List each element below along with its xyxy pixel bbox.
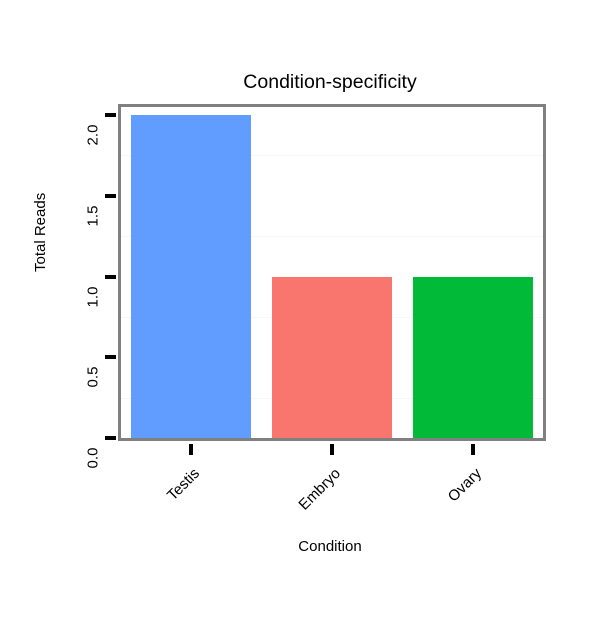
y-tick-mark	[105, 436, 116, 440]
y-tick-mark	[105, 113, 116, 117]
chart-figure: Condition-specificity Total Reads Condit…	[0, 0, 600, 600]
y-axis-title: Total Reads	[32, 193, 49, 272]
plot-panel	[118, 104, 546, 441]
y-tick-mark	[105, 194, 116, 198]
y-tick-label: 1.5	[85, 196, 102, 236]
chart-title: Condition-specificity	[0, 71, 600, 94]
x-tick-mark	[330, 444, 334, 455]
bar-embryo	[272, 277, 392, 439]
x-tick-mark	[471, 444, 475, 455]
y-tick-mark	[105, 355, 116, 359]
bar-testis	[131, 115, 251, 438]
y-tick-label: 1.0	[85, 277, 102, 317]
x-tick-mark	[189, 444, 193, 455]
x-axis-title: Condition	[0, 538, 600, 555]
y-tick-label: 0.5	[85, 357, 102, 397]
y-tick-mark	[105, 275, 116, 279]
bar-ovary	[413, 277, 533, 439]
plot-area	[121, 107, 543, 438]
y-tick-label: 2.0	[85, 115, 102, 155]
y-tick-label: 0.0	[85, 438, 102, 478]
